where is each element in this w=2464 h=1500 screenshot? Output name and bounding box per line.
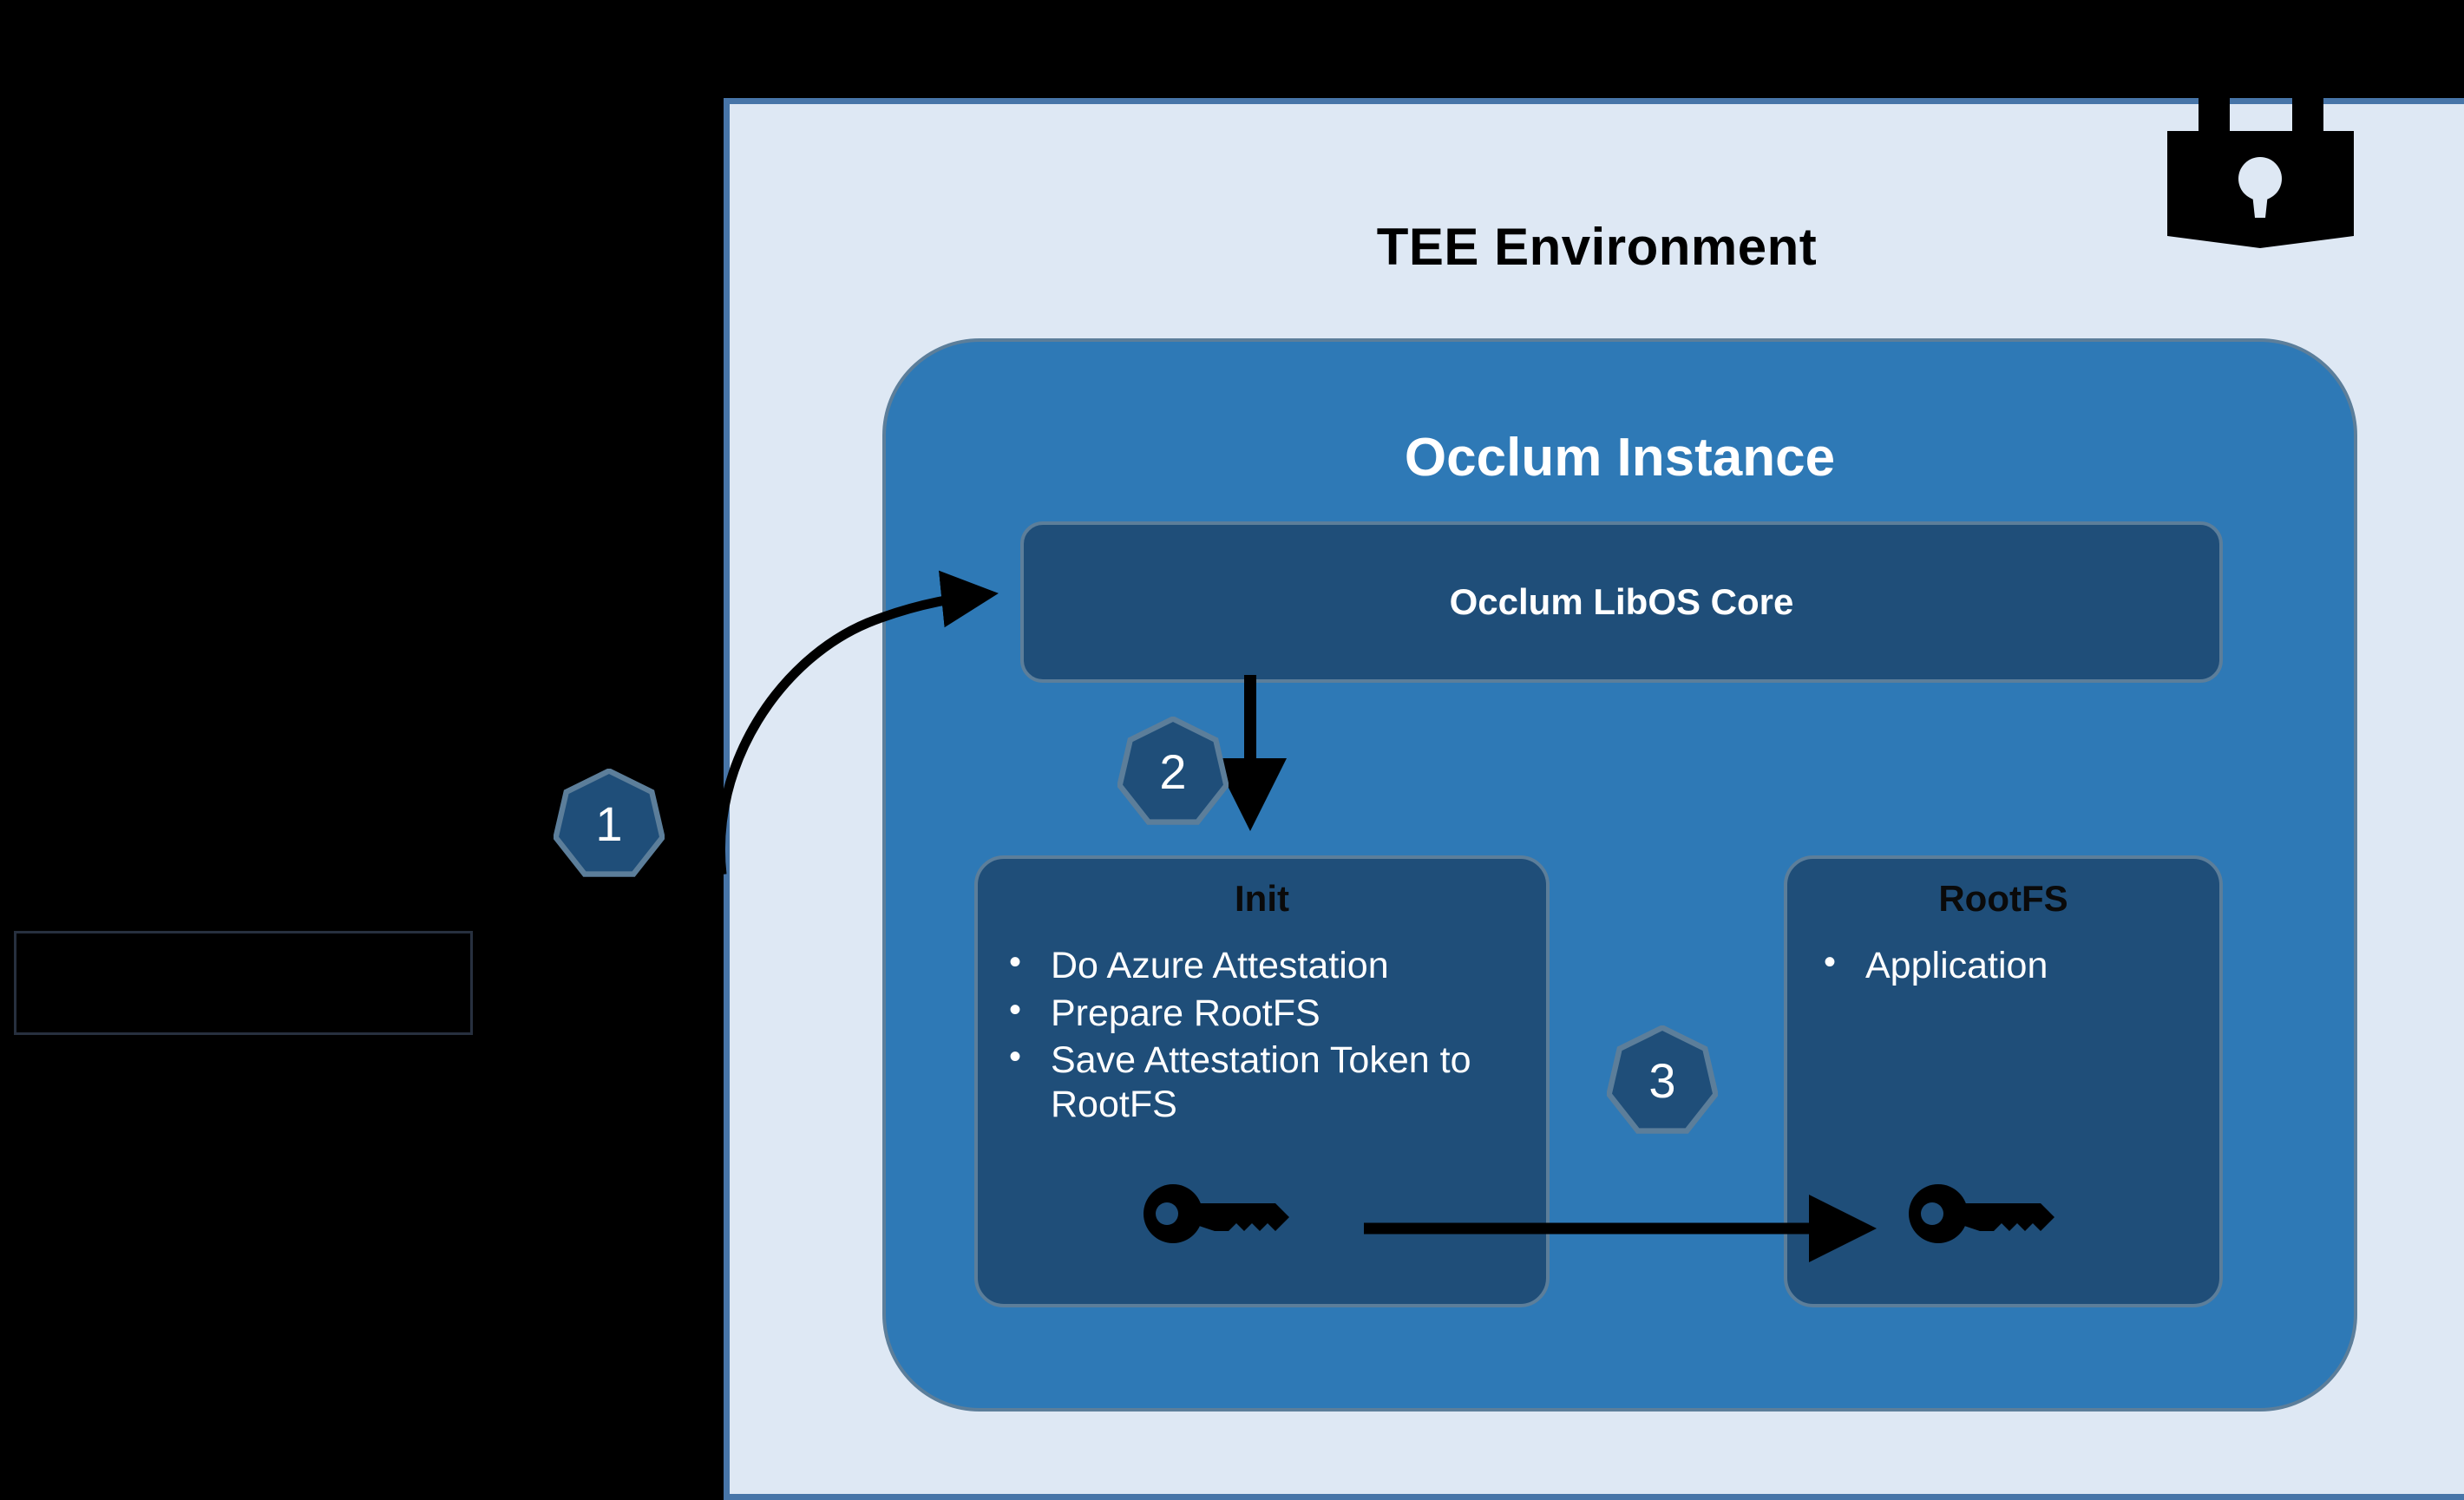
step-badge-2: 2: [1117, 717, 1229, 828]
step-badge-2-number: 2: [1117, 717, 1229, 828]
key-icon: [1144, 1184, 1308, 1248]
list-item: Save Attestation Token to RootFS: [997, 1038, 1532, 1126]
key-icon: [1909, 1184, 2074, 1248]
diagram-canvas: TEE Environment Occlum Instance Occlum L…: [0, 0, 2464, 1500]
rootfs-panel-title: RootFS: [1787, 878, 2219, 920]
rootfs-bullet-list: Application: [1812, 944, 2205, 992]
tee-environment-container: TEE Environment Occlum Instance Occlum L…: [724, 98, 2464, 1500]
lock-icon: [2167, 83, 2354, 257]
occlum-instance-container: Occlum Instance Occlum LibOS Core Init D…: [882, 338, 2357, 1412]
step-badge-1: 1: [554, 769, 665, 880]
list-item: Application: [1812, 944, 2205, 988]
occlum-libos-core-label: Occlum LibOS Core: [1450, 581, 1794, 623]
step-badge-3: 3: [1607, 1025, 1718, 1136]
occlum-libos-core-box: Occlum LibOS Core: [1020, 521, 2223, 683]
empty-placeholder-box: [14, 931, 473, 1035]
step-badge-3-number: 3: [1607, 1025, 1718, 1136]
occlum-instance-title: Occlum Instance: [886, 427, 2354, 488]
init-panel-title: Init: [978, 878, 1546, 920]
list-item: Do Azure Attestation: [997, 944, 1532, 988]
list-item: Prepare RootFS: [997, 992, 1532, 1036]
init-bullet-list: Do Azure Attestation Prepare RootFS Save…: [997, 944, 1532, 1130]
step-badge-1-number: 1: [554, 769, 665, 880]
